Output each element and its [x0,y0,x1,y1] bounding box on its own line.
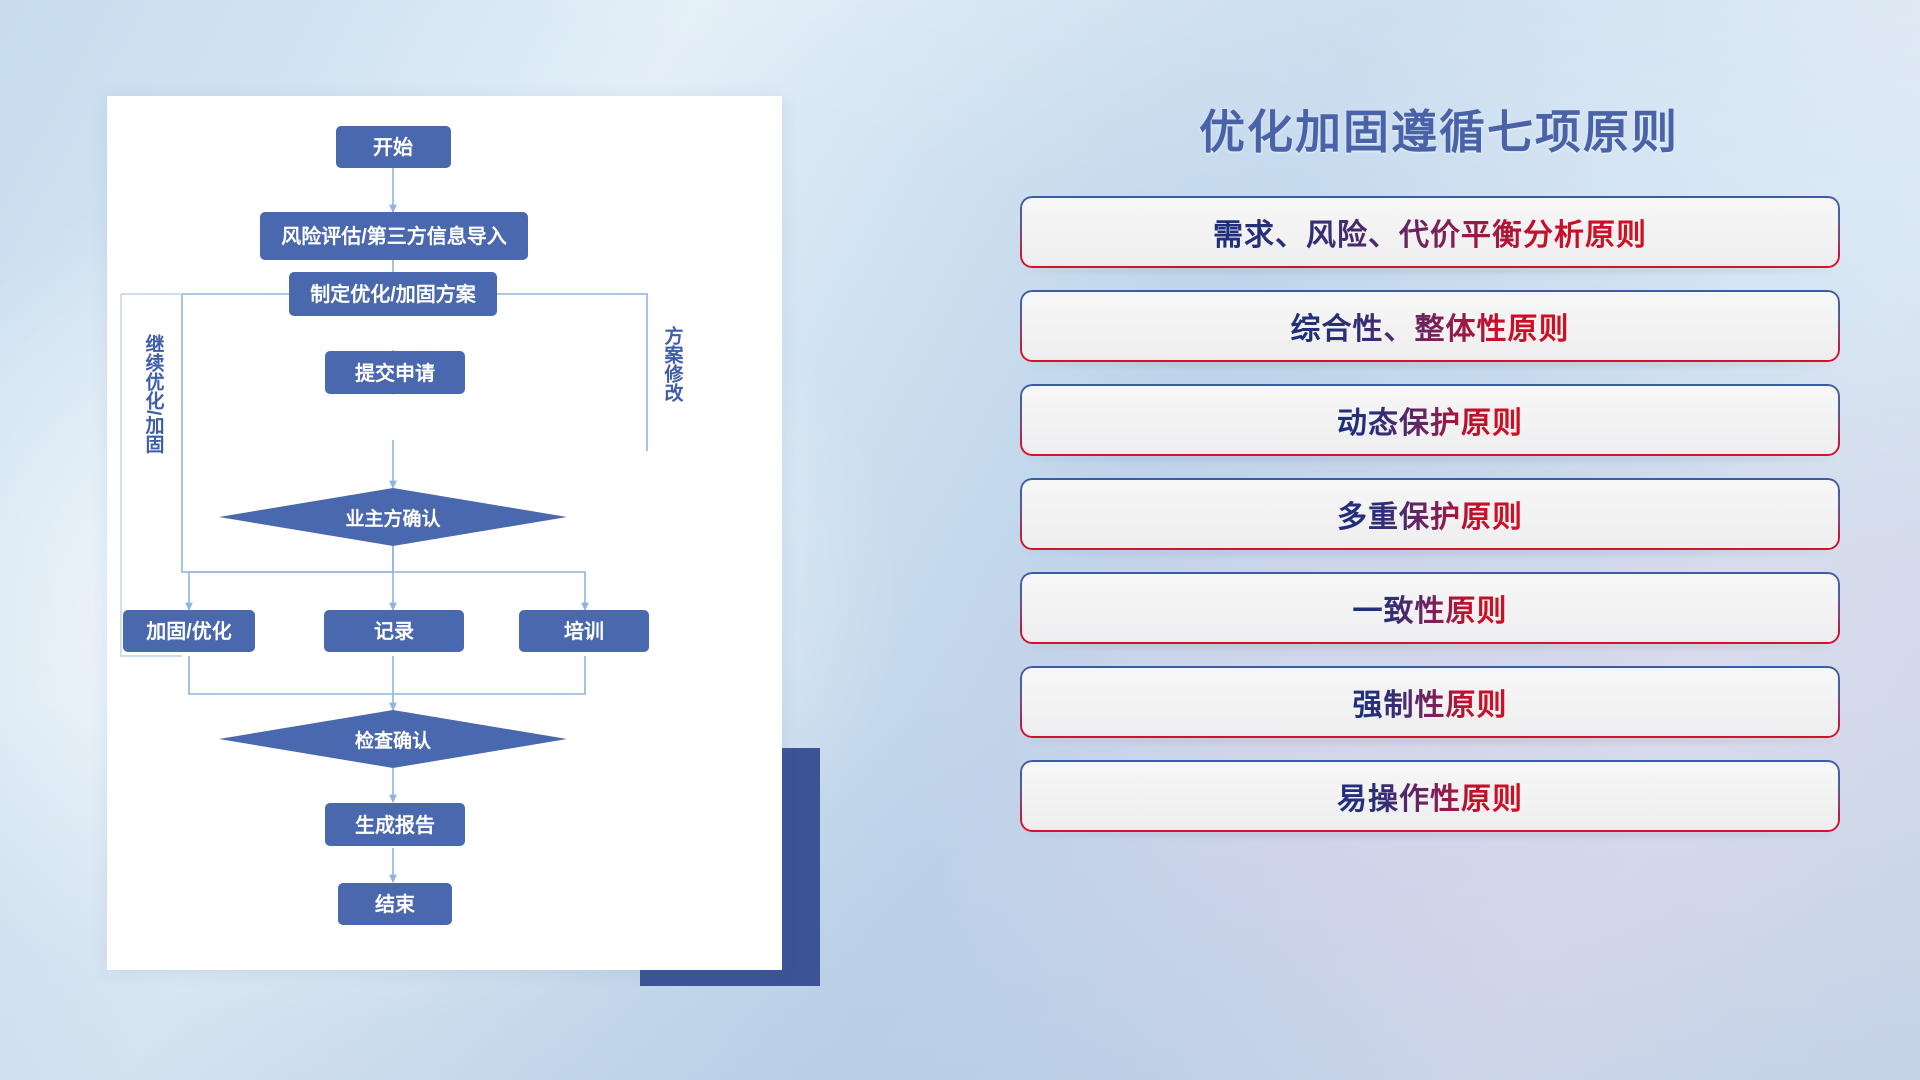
flow-node-submit[interactable]: 提交申请 [325,351,465,394]
flowchart-card: 开始 风险评估/第三方信息导入 制定优化/加固方案 提交申请 业主方确认 [107,96,782,970]
flow-node-record[interactable]: 记录 [324,610,464,652]
principle-label-7: 易操作性原则 [1337,774,1523,818]
flow-node-start-label: 开始 [373,135,413,159]
flow-node-assess-label: 风险评估/第三方信息导入 [281,224,507,248]
principle-label-3: 动态保护原则 [1337,398,1523,442]
flow-node-reinforce-label: 加固/优化 [145,619,232,643]
principle-card-7[interactable]: 易操作性原则 [1020,760,1840,832]
flow-node-training-label: 培训 [564,619,604,643]
flow-node-reinforce[interactable]: 加固/优化 [123,610,255,652]
flow-node-record-label: 记录 [374,620,414,643]
flow-edge-label-continue: 继续优化/加固 [143,333,166,454]
flow-node-start[interactable]: 开始 [336,126,451,168]
principle-card-4[interactable]: 多重保护原则 [1020,478,1840,550]
principle-card-2[interactable]: 综合性、整体性原则 [1020,290,1840,362]
flow-node-report[interactable]: 生成报告 [325,803,465,846]
principle-card-list: 需求、风险、代价平衡分析原则 综合性、整体性原则 动态保护原则 多重保护原则 一… [1020,196,1840,832]
principle-card-3[interactable]: 动态保护原则 [1020,384,1840,456]
flow-node-owner-confirm[interactable]: 业主方确认 [219,488,567,546]
page-title: 优化加固遵循七项原则 [1020,96,1840,162]
principle-label-4: 多重保护原则 [1337,492,1523,536]
principle-label-2: 综合性、整体性原则 [1291,304,1570,348]
flow-node-owner-confirm-label: 业主方确认 [345,507,440,530]
flow-node-check-label: 检查确认 [355,729,431,752]
flow-node-report-label: 生成报告 [355,813,435,837]
flow-node-check[interactable]: 检查确认 [219,710,567,768]
flow-node-training[interactable]: 培训 [519,610,649,652]
principle-label-6: 强制性原则 [1353,680,1508,724]
principle-card-6[interactable]: 强制性原则 [1020,666,1840,738]
flow-node-plan-label: 制定优化/加固方案 [310,282,477,306]
flow-node-end-label: 结束 [375,892,416,916]
slide-root: 开始 风险评估/第三方信息导入 制定优化/加固方案 提交申请 业主方确认 [0,0,1920,1080]
principle-card-1[interactable]: 需求、风险、代价平衡分析原则 [1020,196,1840,268]
principle-card-5[interactable]: 一致性原则 [1020,572,1840,644]
flow-edge-label-revise: 方案修改 [662,325,685,403]
flowchart-diagram: 开始 风险评估/第三方信息导入 制定优化/加固方案 提交申请 业主方确认 [107,96,782,970]
flow-node-assess[interactable]: 风险评估/第三方信息导入 [260,212,528,260]
principles-pane: 优化加固遵循七项原则 需求、风险、代价平衡分析原则 综合性、整体性原则 动态保护… [1020,96,1840,996]
flow-node-submit-label: 提交申请 [355,361,435,385]
flow-node-plan[interactable]: 制定优化/加固方案 [289,272,497,316]
principle-label-5: 一致性原则 [1353,586,1508,630]
flow-node-end[interactable]: 结束 [338,883,452,925]
principle-label-1: 需求、风险、代价平衡分析原则 [1213,210,1647,254]
